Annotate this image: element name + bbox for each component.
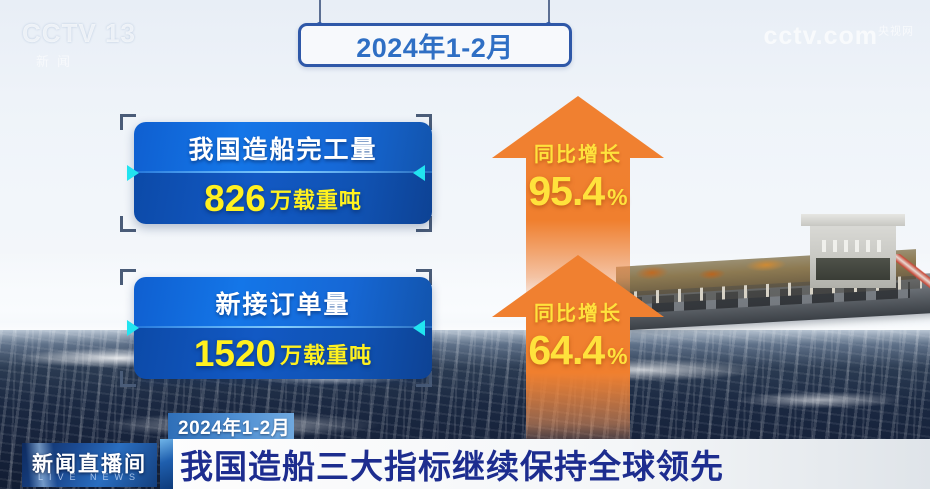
growth-number-1: 95.4 — [528, 168, 604, 214]
program-logo: 新闻直播间 LIVE NEWS — [22, 443, 157, 487]
stat-value-row-1: 826 万载重吨 — [134, 173, 432, 224]
title-plate-text: 2024年1-2月 — [356, 26, 514, 65]
stat-unit-1: 万载重吨 — [270, 183, 362, 215]
ship-gangway — [896, 254, 930, 296]
percent-symbol-1: % — [607, 184, 627, 210]
growth-label-1: 同比增长 — [492, 138, 664, 167]
cctv-com-watermark: cctv.com央视网 — [763, 22, 914, 51]
stat-label-1: 我国造船完工量 — [188, 130, 377, 166]
cctv13-logo-sub: 新闻 — [22, 51, 144, 70]
cctv13-channel-logo: CCTV 13 新闻 — [22, 20, 144, 70]
broadcast-screenshot: 2024年1-2月 我国造船完工量 826 万载重吨 新接订单量 — [0, 0, 930, 489]
cctv13-logo-text: CCTV 13 — [22, 20, 144, 46]
stat-value-row-2: 1520 万载重吨 — [134, 328, 432, 379]
watermark-cn: 央视网 — [878, 26, 914, 38]
growth-value-2: 64.4% — [492, 327, 664, 374]
stat-block-2: 新接订单量 1520 万载重吨 — [120, 277, 432, 379]
stat-label-2: 新接订单量 — [215, 285, 350, 321]
lower-third-headline: 我国造船三大指标继续保持全球领先 — [180, 439, 724, 489]
growth-label-2: 同比增长 — [492, 297, 664, 326]
stat-block-1: 我国造船完工量 826 万载重吨 — [120, 122, 432, 224]
lower-third-date-tab: 2024年1-2月 — [168, 413, 294, 439]
cyan-marker-left-2 — [127, 320, 139, 336]
ship-bridge-roof — [801, 214, 905, 226]
stat-label-row-1: 我国造船完工量 — [134, 122, 432, 173]
stat-box-1: 我国造船完工量 826 万载重吨 — [134, 122, 432, 224]
stat-label-row-2: 新接订单量 — [134, 277, 432, 328]
stat-value-1: 826 — [204, 180, 266, 217]
growth-value-1: 95.4% — [492, 168, 664, 215]
growth-number-2: 64.4 — [528, 327, 604, 373]
stat-unit-2: 万载重吨 — [280, 338, 372, 370]
cyan-marker-right-2 — [413, 320, 425, 336]
ship-bridge-windows — [816, 258, 890, 280]
title-plate: 2024年1-2月 — [298, 23, 572, 67]
lower-third-date: 2024年1-2月 — [178, 413, 290, 440]
watermark-suffix: .com — [816, 22, 878, 50]
ship-bridge-lights — [822, 240, 884, 252]
cyan-marker-right-1 — [413, 165, 425, 181]
cyan-marker-left-1 — [127, 165, 139, 181]
stat-box-2: 新接订单量 1520 万载重吨 — [134, 277, 432, 379]
program-logo-en: LIVE NEWS — [22, 472, 157, 482]
lower-third-accent — [160, 439, 173, 489]
stat-value-2: 1520 — [194, 335, 276, 372]
watermark-text: cctv — [763, 22, 815, 50]
percent-symbol-2: % — [607, 343, 627, 369]
